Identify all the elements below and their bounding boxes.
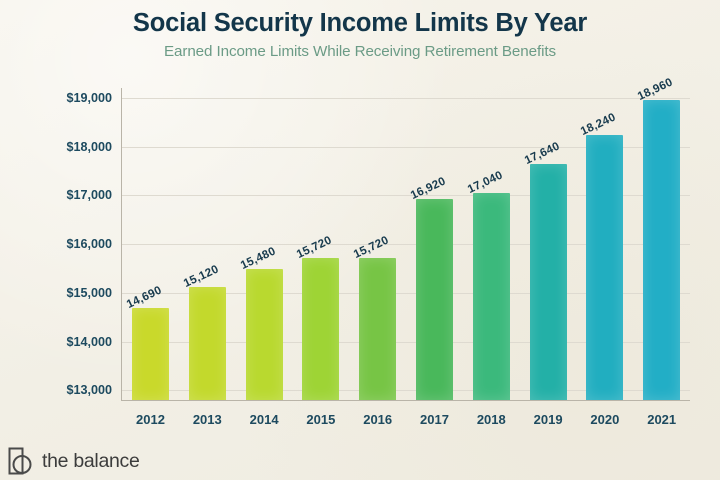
bar-2019[interactable] bbox=[530, 164, 567, 400]
bar-2014[interactable] bbox=[246, 269, 283, 400]
x-axis-tick-label: 2020 bbox=[577, 412, 633, 427]
bar-2016[interactable] bbox=[359, 258, 396, 400]
y-axis-tick-label: $18,000 bbox=[4, 140, 112, 154]
x-axis-tick-label: 2018 bbox=[463, 412, 519, 427]
x-axis-tick-label: 2017 bbox=[407, 412, 463, 427]
y-axis-tick-label: $19,000 bbox=[4, 91, 112, 105]
y-axis-tick-label: $14,000 bbox=[4, 335, 112, 349]
x-axis-tick-label: 2016 bbox=[350, 412, 406, 427]
footer-brand-logo: the balance bbox=[8, 447, 140, 475]
bar-value-label: 14,690 bbox=[125, 283, 164, 311]
y-axis-tick-label: $15,000 bbox=[4, 286, 112, 300]
x-axis-tick-label: 2021 bbox=[634, 412, 690, 427]
x-axis-tick-label: 2015 bbox=[293, 412, 349, 427]
x-axis-tick-label: 2014 bbox=[236, 412, 292, 427]
bar-2020[interactable] bbox=[586, 135, 623, 400]
y-axis-tick-label: $16,000 bbox=[4, 237, 112, 251]
bar-value-label: 15,120 bbox=[181, 262, 220, 290]
gridline bbox=[122, 98, 690, 99]
brand-name: the balance bbox=[42, 450, 140, 473]
bar-2018[interactable] bbox=[473, 193, 510, 400]
bar-value-label: 15,480 bbox=[238, 245, 277, 273]
y-axis-labels: $13,000$14,000$15,000$16,000$17,000$18,0… bbox=[0, 0, 112, 480]
x-axis-tick-label: 2019 bbox=[520, 412, 576, 427]
y-axis-tick-label: $17,000 bbox=[4, 188, 112, 202]
bar-2017[interactable] bbox=[416, 199, 453, 400]
bar-value-label: 15,720 bbox=[295, 233, 334, 261]
y-axis-tick-label: $13,000 bbox=[4, 383, 112, 397]
bar-value-label: 17,640 bbox=[522, 140, 561, 168]
bar-2013[interactable] bbox=[189, 287, 226, 400]
x-axis-tick-label: 2013 bbox=[179, 412, 235, 427]
x-axis-tick-label: 2012 bbox=[123, 412, 179, 427]
bar-2021[interactable] bbox=[643, 100, 680, 400]
chart-page: Social Security Income Limits By Year Ea… bbox=[0, 0, 720, 480]
bar-value-label: 17,040 bbox=[465, 169, 504, 197]
bar-2015[interactable] bbox=[302, 258, 339, 400]
bar-value-label: 15,720 bbox=[352, 233, 391, 261]
plot-area: 14,69015,12015,48015,72015,72016,92017,0… bbox=[122, 88, 690, 400]
x-axis-line bbox=[122, 400, 690, 401]
bar-2012[interactable] bbox=[132, 308, 169, 400]
bar-value-label: 16,920 bbox=[409, 175, 448, 203]
balance-b-logo-icon bbox=[8, 447, 34, 475]
bar-value-label: 18,240 bbox=[579, 110, 618, 138]
